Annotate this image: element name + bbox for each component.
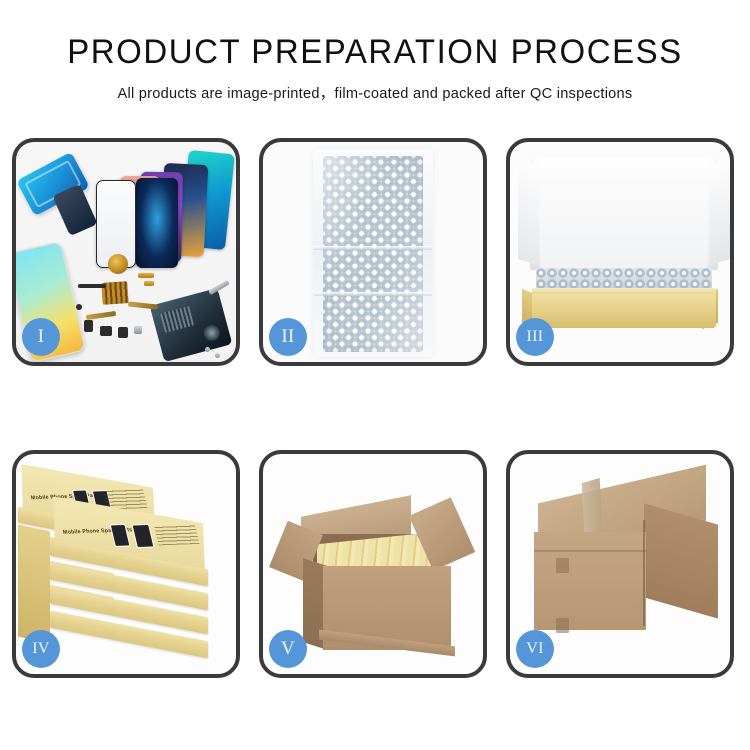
stack-side-face [18,525,50,644]
process-steps-grid: I II III [12,138,738,678]
step-panel-products-and-spare-parts: I [12,138,240,366]
step-badge-4: IV [22,630,60,668]
carton-side-right-graphic [644,503,718,618]
carton-seam-graphic [534,550,646,552]
flex-cable-graphic [128,301,158,309]
box-interior-graphic [540,186,708,276]
small-part-graphic [118,327,128,338]
header: PRODUCT PREPARATION PROCESS All products… [0,34,750,103]
small-part-graphic [84,320,93,332]
box-front-graphic [532,294,716,328]
step-badge-5: V [269,630,307,668]
phone-jellyfish-graphic [136,178,178,268]
logic-board-graphic [150,288,233,362]
vibration-motor-graphic [108,254,128,274]
small-part-graphic [144,281,154,286]
carton-edge-graphic [643,520,645,626]
page-subtitle: All products are image-printed，film-coat… [0,82,750,103]
screw-graphic [205,347,210,352]
small-part-graphic [78,284,106,288]
step-panel-inner-box: III [506,138,734,366]
small-part-graphic [138,273,154,278]
small-part-graphic [76,304,82,310]
small-part-graphic [100,326,112,336]
screw-graphic [215,353,220,358]
page-title: PRODUCT PREPARATION PROCESS [11,34,739,70]
tweezers-graphic [208,280,230,295]
flex-cable-graphic [86,311,116,320]
step-badge-1: I [22,318,60,356]
step-badge-6: VI [516,630,554,668]
carton-handle-slot-graphic [556,558,569,573]
wrap-seam-graphic [314,246,432,250]
step-panel-bubble-wrap: II [259,138,487,366]
step-badge-3: III [516,318,554,356]
small-part-graphic [134,326,142,334]
carton-front-graphic [534,532,646,630]
step-panel-stacked-retail-boxes: Mobile Phone Spare Parts Mobile Phone Sp… [12,450,240,678]
carton-handle-slot-graphic [556,618,569,633]
wrap-seam-graphic [314,292,432,296]
step-badge-2: II [269,318,307,356]
product-preparation-infographic: PRODUCT PREPARATION PROCESS All products… [0,0,750,750]
bubble-pattern-graphic [323,156,423,352]
step-panel-sealed-carton: VI [506,450,734,678]
box-screen-image [131,524,154,548]
box-spec-lines [154,524,200,546]
step-panel-open-carton: V [259,450,487,678]
dark-panel-graphic [52,184,97,236]
